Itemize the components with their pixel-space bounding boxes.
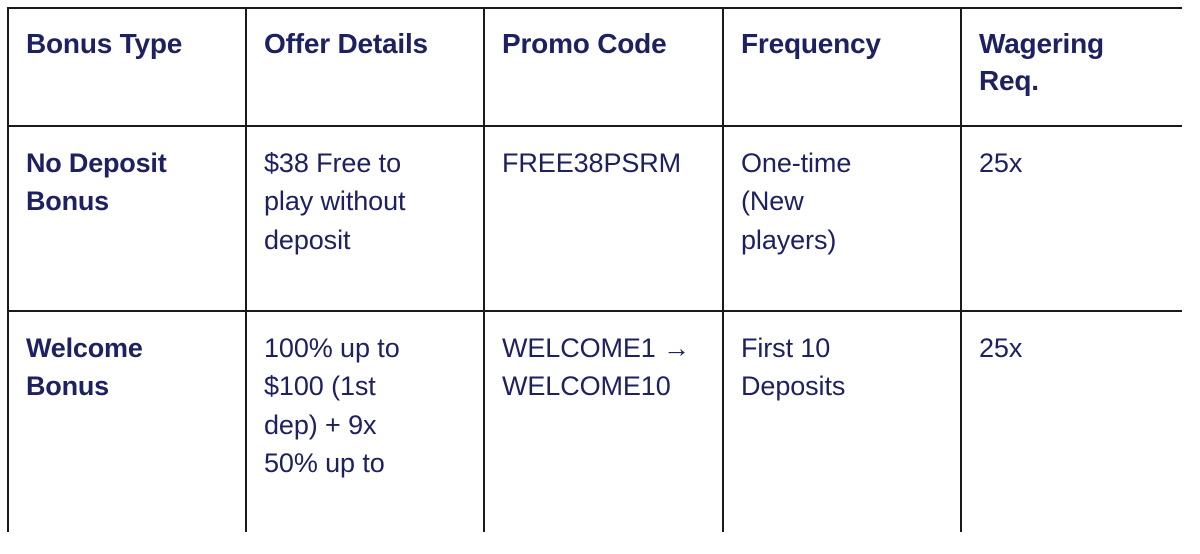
- cell-promo-code-text: FREE38PSRM: [502, 144, 706, 182]
- cell-bonus-type: No Deposit Bonus: [8, 126, 246, 311]
- column-header-wagering-req-label: Wagering Req.: [979, 26, 1166, 100]
- column-header-frequency-label: Frequency: [741, 26, 944, 63]
- cell-promo-code-text: WELCOME1 → WELCOME10: [502, 329, 706, 406]
- cell-wagering-req-text: 25x: [979, 144, 1166, 182]
- table-row: Welcome Bonus 100% up to $100 (1st dep) …: [8, 311, 1182, 532]
- table-header: Bonus Type Offer Details Promo Code Freq…: [8, 8, 1182, 126]
- cell-promo-code: WELCOME1 → WELCOME10: [484, 311, 723, 532]
- casino-bonus-comparison-table: Bonus Type Offer Details Promo Code Freq…: [7, 7, 1182, 532]
- column-header-offer-details-label: Offer Details: [264, 26, 467, 63]
- table-row: No Deposit Bonus $38 Free to play withou…: [8, 126, 1182, 311]
- table-body: No Deposit Bonus $38 Free to play withou…: [8, 126, 1182, 532]
- cell-frequency-text: One-time (New players): [741, 144, 944, 259]
- cell-offer-details: $38 Free to play without deposit: [246, 126, 484, 311]
- cell-frequency: One-time (New players): [723, 126, 961, 311]
- column-header-promo-code: Promo Code: [484, 8, 723, 126]
- cell-wagering-req-text: 25x: [979, 329, 1166, 367]
- column-header-promo-code-label: Promo Code: [502, 26, 706, 63]
- bonus-table-container: Bonus Type Offer Details Promo Code Freq…: [7, 7, 1182, 532]
- column-header-bonus-type-label: Bonus Type: [26, 26, 229, 63]
- cell-offer-details-text: 100% up to $100 (1st dep) + 9x 50% up to: [264, 329, 467, 482]
- column-header-frequency: Frequency: [723, 8, 961, 126]
- column-header-offer-details: Offer Details: [246, 8, 484, 126]
- table-header-row: Bonus Type Offer Details Promo Code Freq…: [8, 8, 1182, 126]
- cell-bonus-type: Welcome Bonus: [8, 311, 246, 532]
- cell-offer-details: 100% up to $100 (1st dep) + 9x 50% up to: [246, 311, 484, 532]
- cell-frequency-text: First 10 Deposits: [741, 329, 944, 406]
- cell-bonus-type-text: Welcome Bonus: [26, 329, 229, 406]
- cell-wagering-req: 25x: [961, 126, 1182, 311]
- cell-promo-code: FREE38PSRM: [484, 126, 723, 311]
- cell-bonus-type-text: No Deposit Bonus: [26, 144, 229, 221]
- cell-offer-details-text: $38 Free to play without deposit: [264, 144, 467, 259]
- column-header-wagering-req: Wagering Req.: [961, 8, 1182, 126]
- column-header-bonus-type: Bonus Type: [8, 8, 246, 126]
- cell-frequency: First 10 Deposits: [723, 311, 961, 532]
- cell-wagering-req: 25x: [961, 311, 1182, 532]
